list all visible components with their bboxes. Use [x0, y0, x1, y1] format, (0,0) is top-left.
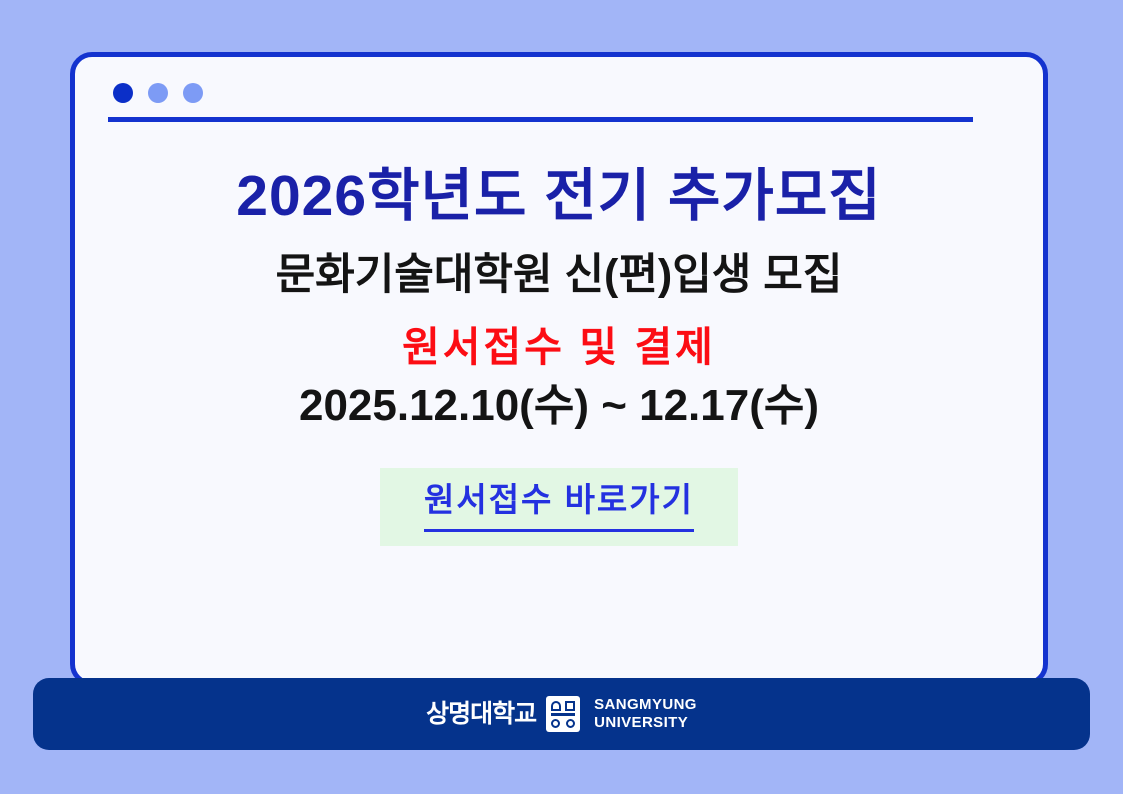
- university-name-korean: 상명대학교: [426, 702, 536, 727]
- window-dot-3-icon[interactable]: [183, 83, 203, 103]
- poster-content: 2026학년도 전기 추가모집 문화기술대학원 신(편)입생 모집 원서접수 및…: [75, 165, 1043, 546]
- header-divider: [108, 117, 973, 122]
- apply-link-underline: [424, 529, 694, 532]
- window-dot-1-icon[interactable]: [113, 83, 133, 103]
- university-name-english-line1: SANGMYUNG: [594, 696, 697, 714]
- application-period-text: 2025.12.10(수) ~ 12.17(수): [75, 382, 1043, 430]
- university-name-english: SANGMYUNG UNIVERSITY: [594, 696, 697, 731]
- application-emphasis-text: 원서접수 및 결제: [75, 325, 1043, 370]
- window-dot-2-icon[interactable]: [148, 83, 168, 103]
- university-logo: 상명대학교 SANGMYUNG UNIVERSITY: [426, 696, 697, 732]
- poster-window-card: 2026학년도 전기 추가모집 문화기술대학원 신(편)입생 모집 원서접수 및…: [70, 52, 1048, 686]
- university-name-english-line2: UNIVERSITY: [594, 714, 697, 732]
- window-controls: [113, 83, 203, 103]
- university-footer-bar: 상명대학교 SANGMYUNG UNIVERSITY: [33, 678, 1090, 750]
- page-subtitle: 문화기술대학원 신(편)입생 모집: [75, 251, 1043, 299]
- sangmyung-emblem-icon: [546, 696, 580, 732]
- apply-now-link[interactable]: 원서접수 바로가기: [424, 479, 694, 520]
- apply-link-highlight[interactable]: 원서접수 바로가기: [380, 468, 738, 545]
- page-title: 2026학년도 전기 추가모집: [75, 165, 1043, 229]
